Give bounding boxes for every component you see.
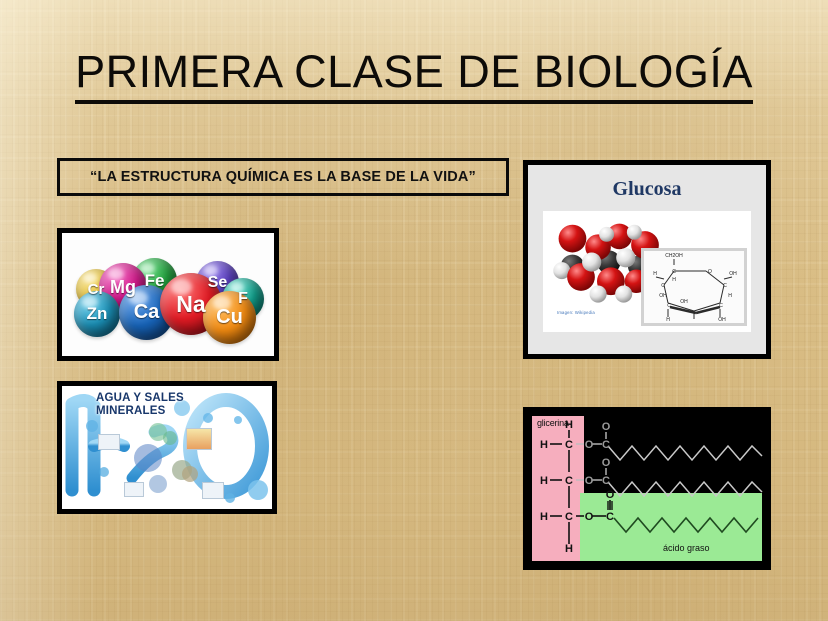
svg-text:C: C <box>602 475 610 487</box>
svg-text:OH: OH <box>680 299 688 305</box>
svg-text:C: C <box>606 511 614 523</box>
svg-text:C: C <box>723 283 727 289</box>
glucose-haworth-structure: CH2OH C O C C C C H OH H OH OH O <box>641 248 747 326</box>
glucose-title: Glucosa <box>528 178 766 201</box>
svg-text:H: H <box>540 475 548 487</box>
thumbnail-1 <box>98 434 120 450</box>
label-ch2oh: CH2OH <box>665 253 683 259</box>
quote-box: “LA ESTRUCTURA QUÍMICA ES LA BASE DE LA … <box>57 158 509 196</box>
svg-text:H: H <box>666 317 670 323</box>
svg-text:O: O <box>585 439 594 451</box>
element-symbol-cu: Cu <box>216 306 243 329</box>
water-canvas: AGUA Y SALES MINERALES <box>62 386 272 509</box>
fatty-acid-label: ácido graso <box>663 543 710 553</box>
element-symbol-se: Se <box>208 274 228 292</box>
element-sphere-cu: Cu <box>203 291 256 344</box>
svg-text:O: O <box>606 489 615 501</box>
svg-text:H: H <box>728 293 732 299</box>
page-title: PRIMERA CLASE DE BIOLOGÍA <box>0 46 828 104</box>
svg-text:O: O <box>708 269 712 275</box>
glucose-white-panel: Imagen: Wikipedia <box>543 211 751 332</box>
svg-text:C: C <box>565 511 573 523</box>
svg-text:OH: OH <box>659 293 667 299</box>
minerals-image[interactable]: Fe Se Cr Mg F Zn Ca Na <box>57 228 279 361</box>
thumbnail-2 <box>186 428 212 450</box>
svg-text:O: O <box>585 475 594 487</box>
svg-text:C: C <box>719 303 723 309</box>
glucose-image[interactable]: Glucosa <box>523 160 771 359</box>
element-symbol-fe: Fe <box>145 271 165 291</box>
thumbnail-4 <box>202 482 224 499</box>
element-symbol-na: Na <box>176 291 205 318</box>
water-caption-line2: MINERALES <box>96 405 184 418</box>
page-title-text: PRIMERA CLASE DE BIOLOGÍA <box>75 46 753 104</box>
water-caption: AGUA Y SALES MINERALES <box>96 392 184 418</box>
svg-text:O: O <box>585 511 594 523</box>
element-symbol-ca: Ca <box>134 301 160 324</box>
svg-text:C: C <box>672 269 676 275</box>
water-minerals-image[interactable]: AGUA Y SALES MINERALES <box>57 381 277 514</box>
svg-text:OH: OH <box>718 317 726 323</box>
lipid-canvas: H C H H C H C H O C O O C O O C O <box>528 412 766 565</box>
lipid-diagram-svg: H C H H C H C H O C O O C O O C O <box>528 412 766 565</box>
glucose-source-caption: Imagen: Wikipedia <box>557 310 595 315</box>
lipid-image[interactable]: H C H H C H C H O C O O C O O C O <box>523 407 771 570</box>
quote-text: “LA ESTRUCTURA QUÍMICA ES LA BASE DE LA … <box>90 169 476 185</box>
svg-text:H: H <box>653 271 657 277</box>
haworth-svg: CH2OH C O C C C C H OH H OH OH O <box>644 251 744 323</box>
glycerol-label: glicerina <box>537 418 569 428</box>
svg-text:OH: OH <box>729 271 737 277</box>
svg-text:H: H <box>565 543 573 555</box>
svg-text:C: C <box>667 303 671 309</box>
water-caption-line1: AGUA Y SALES <box>96 392 184 405</box>
thumbnail-3 <box>124 482 144 497</box>
svg-text:C: C <box>602 439 610 451</box>
minerals-canvas: Fe Se Cr Mg F Zn Ca Na <box>62 233 274 356</box>
slide-canvas: PRIMERA CLASE DE BIOLOGÍA “LA ESTRUCTURA… <box>0 0 828 621</box>
element-symbol-zn: Zn <box>87 304 108 324</box>
svg-text:H: H <box>540 511 548 523</box>
svg-text:O: O <box>602 457 611 469</box>
glucose-canvas: Glucosa <box>528 165 766 354</box>
svg-text:C: C <box>565 475 573 487</box>
svg-text:H: H <box>540 439 548 451</box>
svg-text:O: O <box>602 421 611 433</box>
element-symbol-mg: Mg <box>110 277 136 298</box>
element-sphere-zn: Zn <box>74 291 120 337</box>
svg-text:C: C <box>565 439 573 451</box>
svg-text:C: C <box>661 283 665 289</box>
svg-text:H: H <box>672 277 676 283</box>
element-symbol-cr: Cr <box>88 281 105 298</box>
